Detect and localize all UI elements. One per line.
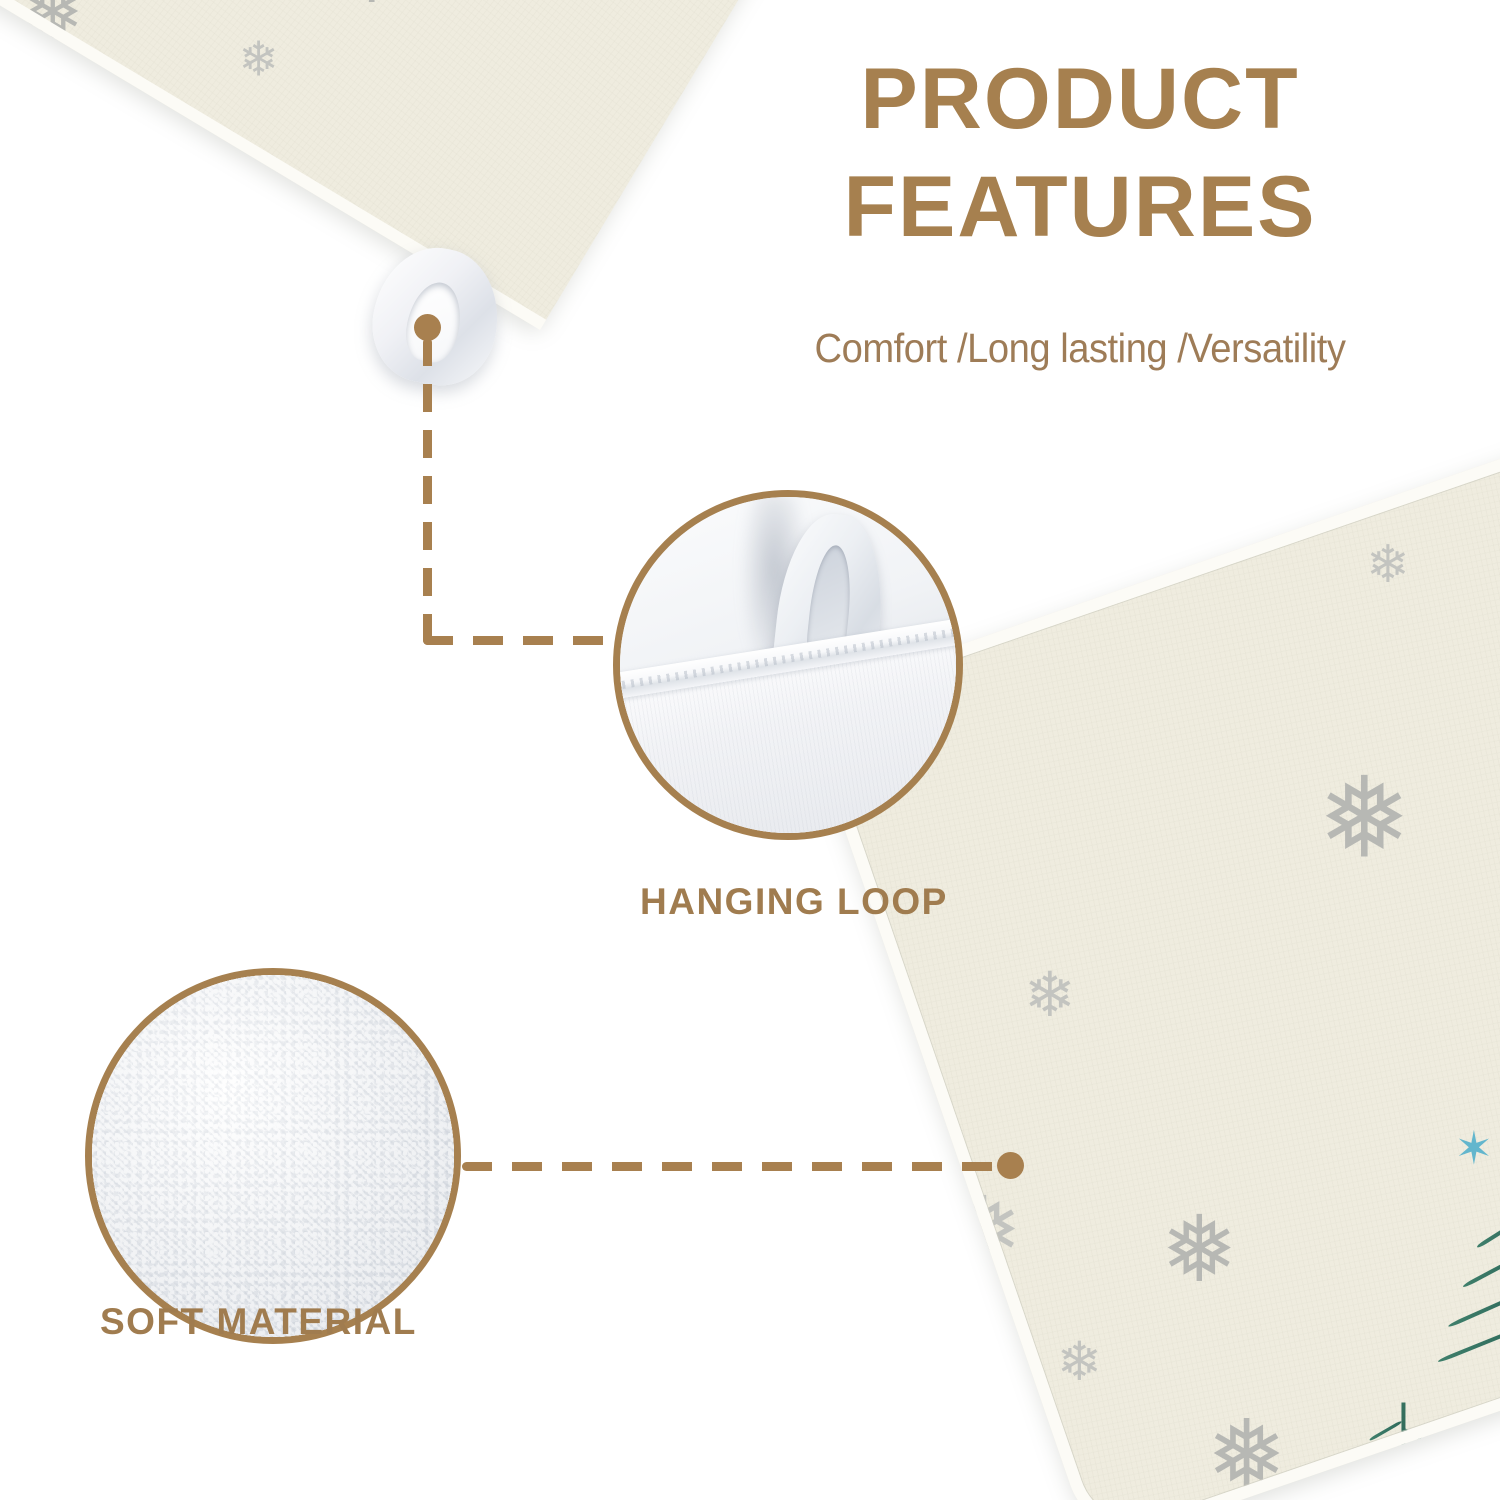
caption-soft-material: SOFT MATERIAL bbox=[100, 1301, 417, 1343]
detail-circle-soft-material bbox=[85, 968, 461, 1344]
snowflake-icon: ❄ bbox=[1366, 539, 1410, 591]
headline-block: PRODUCT FEATURES bbox=[700, 45, 1460, 262]
snowflake-icon: ❄ bbox=[1057, 1335, 1102, 1389]
caption-hanging-loop: HANGING LOOP bbox=[640, 881, 948, 923]
snowflake-icon: ❅ bbox=[22, 0, 84, 50]
star-icon: ✶ bbox=[1455, 1125, 1494, 1171]
headline-line-2: FEATURES bbox=[700, 153, 1460, 261]
snowflake-icon: ❅ bbox=[1206, 1408, 1286, 1500]
callout-line-horizontal bbox=[423, 636, 635, 645]
snowflake-icon: ❄ bbox=[239, 37, 279, 85]
detail-circle-hanging-loop bbox=[613, 490, 963, 840]
snowflake-icon: ❄ bbox=[1024, 965, 1076, 1027]
callout-dot-soft-material bbox=[997, 1152, 1024, 1179]
snowflake-icon: ❅ bbox=[1317, 763, 1411, 875]
callout-line-vertical bbox=[423, 338, 432, 644]
snowflake-icon: ❅ bbox=[331, 0, 411, 18]
detail-circle-soft-material-image bbox=[88, 971, 458, 1341]
detail-circle-hanging-loop-image bbox=[616, 493, 960, 837]
snowman-pompom bbox=[1485, 796, 1500, 1071]
infographic-canvas: ❅ ❄ ❅ ❅ ❄ ✶ ❄ ❅ ❄ ❅ ❅ ❄ ❅ ✶ ✶ ✶ bbox=[0, 0, 1500, 1500]
snowflake-icon: ❅ bbox=[1161, 1204, 1238, 1296]
callout-line-soft-material bbox=[462, 1162, 1002, 1171]
callout-dot-hanging-loop bbox=[414, 314, 441, 341]
snowflake-icon: ❅ bbox=[945, 1185, 1022, 1277]
headline-line-1: PRODUCT bbox=[700, 45, 1460, 153]
headline-subtitle: Comfort /Long lasting /Versatility bbox=[727, 325, 1434, 372]
